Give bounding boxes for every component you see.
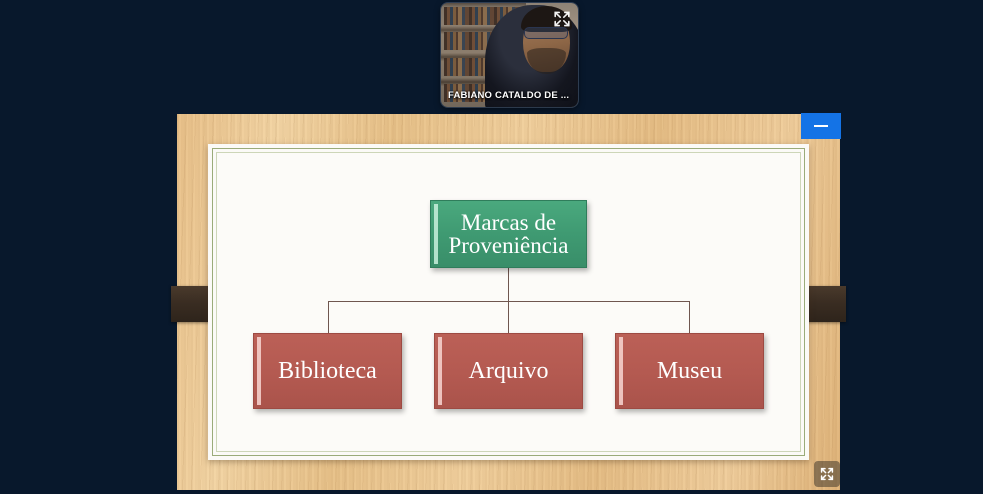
participant-beard bbox=[527, 48, 566, 74]
connector-root-stem bbox=[508, 268, 509, 301]
participant-name-label: FABIANO CATALDO DE ... bbox=[448, 90, 573, 101]
org-node-arquivo[interactable]: Arquivo bbox=[434, 333, 583, 409]
node-edge-highlight bbox=[619, 337, 623, 405]
node-edge-highlight bbox=[438, 337, 442, 405]
slide-fullscreen-button[interactable] bbox=[814, 461, 840, 487]
node-edge-highlight bbox=[257, 337, 261, 405]
connector-drop-museu bbox=[689, 301, 690, 333]
presentation-viewer: FABIANO CATALDO DE ... bbox=[0, 0, 983, 494]
shared-slide[interactable]: Marcas de Proveniência Biblioteca Arquiv… bbox=[177, 114, 840, 490]
org-node-biblioteca-label: Biblioteca bbox=[272, 359, 383, 383]
connector-drop-biblioteca bbox=[328, 301, 329, 333]
connector-drop-arquivo bbox=[508, 301, 509, 333]
slide-board: Marcas de Proveniência Biblioteca Arquiv… bbox=[208, 144, 809, 460]
minimize-button[interactable] bbox=[801, 113, 841, 139]
org-node-museu[interactable]: Museu bbox=[615, 333, 764, 409]
org-node-root[interactable]: Marcas de Proveniência bbox=[430, 200, 587, 268]
org-node-arquivo-label: Arquivo bbox=[463, 359, 555, 383]
minimize-icon bbox=[814, 125, 828, 127]
participant-video-thumbnail[interactable]: FABIANO CATALDO DE ... bbox=[441, 3, 578, 107]
fullscreen-expand-icon bbox=[819, 466, 835, 482]
org-node-root-label: Marcas de Proveniência bbox=[431, 211, 586, 258]
video-fullscreen-icon[interactable] bbox=[552, 9, 572, 29]
org-node-biblioteca[interactable]: Biblioteca bbox=[253, 333, 402, 409]
org-chart: Marcas de Proveniência Biblioteca Arquiv… bbox=[208, 144, 809, 460]
org-node-museu-label: Museu bbox=[651, 359, 728, 383]
